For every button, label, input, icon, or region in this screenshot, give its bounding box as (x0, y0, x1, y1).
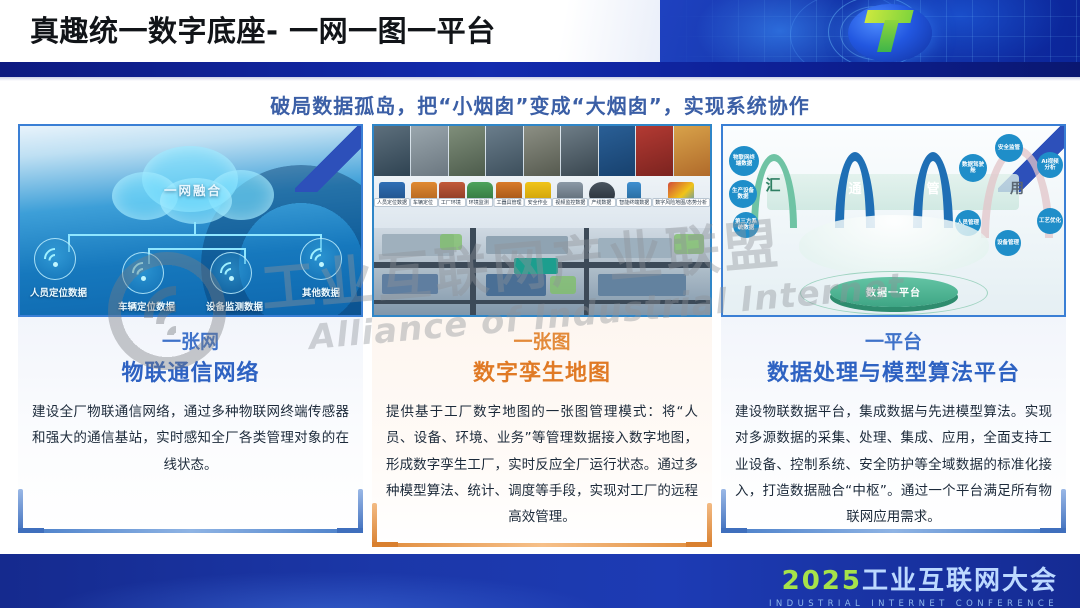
output-bubble-5: 工艺优化 (1037, 208, 1063, 234)
stage-guan: 管 (913, 178, 953, 197)
card-one-platform-body: 一平台 数据处理与模型算法平台 建设物联数据平台，集成数据与先进模型算法。实现对… (721, 317, 1066, 533)
card-one-network-image: 一网融合 人员定位数据 (18, 124, 363, 317)
item-factory: 工厂环境 (438, 176, 466, 228)
header-blue-band (0, 62, 1080, 77)
platform-base: 数据一平台 (830, 277, 958, 307)
conference-year: 2025 (782, 566, 862, 596)
card-one-platform-image: 汇 通 管 用 物联网终端数据 生产设备数据 第三方系统数据 数据驾驶舱 安全监… (721, 124, 1066, 317)
card-heading-secondary: 数字孪生地图 (386, 355, 698, 387)
item-tools: 工器具管理 (494, 176, 525, 228)
card-description: 提供基于工厂数字地图的一张图管理模式：将“人员、设备、环境、业务”等管理数据接入… (386, 399, 698, 531)
input-bubble-3: 第三方系统数据 (733, 212, 759, 238)
corner-ribbon-decoration (295, 124, 363, 192)
card-heading-primary: 一张网 (32, 327, 349, 354)
wifi-icon (218, 262, 244, 282)
stage-tong: 通 (835, 178, 875, 197)
input-bubble-2: 生产设备数据 (729, 180, 757, 208)
card-one-platform[interactable]: 汇 通 管 用 物联网终端数据 生产设备数据 第三方系统数据 数据驾驶舱 安全监… (721, 124, 1066, 533)
cloud-label: 一网融合 (112, 180, 274, 199)
stage-yong: 用 (987, 178, 1047, 198)
stage-hui: 汇 (753, 174, 793, 195)
wifi-icon (42, 248, 68, 268)
item-terminal: 智能终端数据 (616, 176, 652, 228)
card-grid: 一网融合 人员定位数据 (0, 124, 1080, 554)
slide-footer: 2025工业互联网大会 INDUSTRIAL INTERNET CONFEREN… (0, 554, 1080, 608)
item-environment: 环境监测 (466, 176, 494, 228)
node-vehicle-location: 车辆定位数据 (118, 252, 168, 313)
slide-subtitle: 破局数据孤岛，把“小烟囱”变成“大烟囱”，实现系统协作 (0, 90, 1080, 119)
output-bubble-2: 安全监管 (995, 134, 1023, 162)
item-video: 视频监控数据 (552, 176, 588, 228)
wifi-icon (130, 262, 156, 282)
header-band-shadow (0, 77, 1080, 81)
output-bubble-6: 设备管理 (995, 230, 1021, 256)
conference-name-cn: 工业互联网大会 (862, 566, 1058, 596)
photo-thumbnail-strip (374, 126, 710, 176)
card-one-map-body: 一张图 数字孪生地图 提供基于工厂数字地图的一张图管理模式：将“人员、设备、环境… (372, 317, 712, 547)
platform-base-label: 数据一平台 (830, 284, 958, 299)
card-description: 建设全厂物联通信网络，通过多种物联网终端传感器和强大的通信基站，实时感知全厂各类… (32, 399, 349, 478)
card-heading-primary: 一平台 (735, 327, 1052, 354)
node-label: 人员定位数据 (30, 285, 80, 299)
item-personnel: 人员定位数据 (374, 176, 410, 228)
input-bubble-1: 物联网终端数据 (729, 146, 759, 176)
card-description: 建设物联数据平台，集成数据与先进模型算法。实现对多源数据的采集、处理、集成、应用… (735, 399, 1052, 531)
data-source-nodes: 人员定位数据 车辆定位数据 设备监测数据 (30, 238, 360, 314)
card-one-network[interactable]: 一网融合 人员定位数据 (18, 124, 363, 533)
slide-root: 真趣统一数字底座- 一网一图一平台 破局数据孤岛，把“小烟囱”变成“大烟囱”，实… (0, 0, 1080, 608)
card-heading-primary: 一张图 (386, 327, 698, 354)
item-risk-map: 数字风险地图/态势分析 (652, 176, 710, 228)
node-equipment-monitor: 设备监测数据 (206, 252, 256, 313)
digital-twin-map (374, 228, 710, 317)
platform-bowl-decoration (799, 215, 989, 275)
node-other-data: 其他数据 (296, 238, 346, 299)
card-one-network-body: 一张网 物联通信网络 建设全厂物联通信网络，通过多种物联网终端传感器和强大的通信… (18, 317, 363, 533)
node-label: 设备监测数据 (206, 299, 256, 313)
output-bubble-1: 数据驾驶舱 (959, 154, 987, 182)
slide-header: 真趣统一数字底座- 一网一图一平台 (0, 0, 1080, 62)
node-label: 其他数据 (296, 285, 346, 299)
conference-name-en: INDUSTRIAL INTERNET CONFERENCE (769, 599, 1058, 608)
page-title: 真趣统一数字底座- 一网一图一平台 (30, 8, 496, 50)
icon-label-row: 人员定位数据 车辆定位 工厂环境 环境监测 (374, 176, 710, 228)
card-heading-secondary: 数据处理与模型算法平台 (735, 355, 1052, 387)
item-safety: 安全作业 (525, 176, 553, 228)
item-vehicle: 车辆定位 (410, 176, 438, 228)
output-bubble-3: AI视频分析 (1037, 152, 1063, 178)
green-t-logo-icon (866, 10, 912, 52)
card-heading-secondary: 物联通信网络 (32, 355, 349, 387)
node-personnel-location: 人员定位数据 (30, 238, 80, 299)
item-production: 产线数据 (588, 176, 616, 228)
card-one-map[interactable]: 人员定位数据 车辆定位 工厂环境 环境监测 (372, 124, 712, 547)
node-label: 车辆定位数据 (118, 299, 168, 313)
conference-logo: 2025工业互联网大会 INDUSTRIAL INTERNET CONFEREN… (769, 560, 1058, 608)
wifi-icon (308, 248, 334, 268)
card-one-map-image: 人员定位数据 车辆定位 工厂环境 环境监测 (372, 124, 712, 317)
